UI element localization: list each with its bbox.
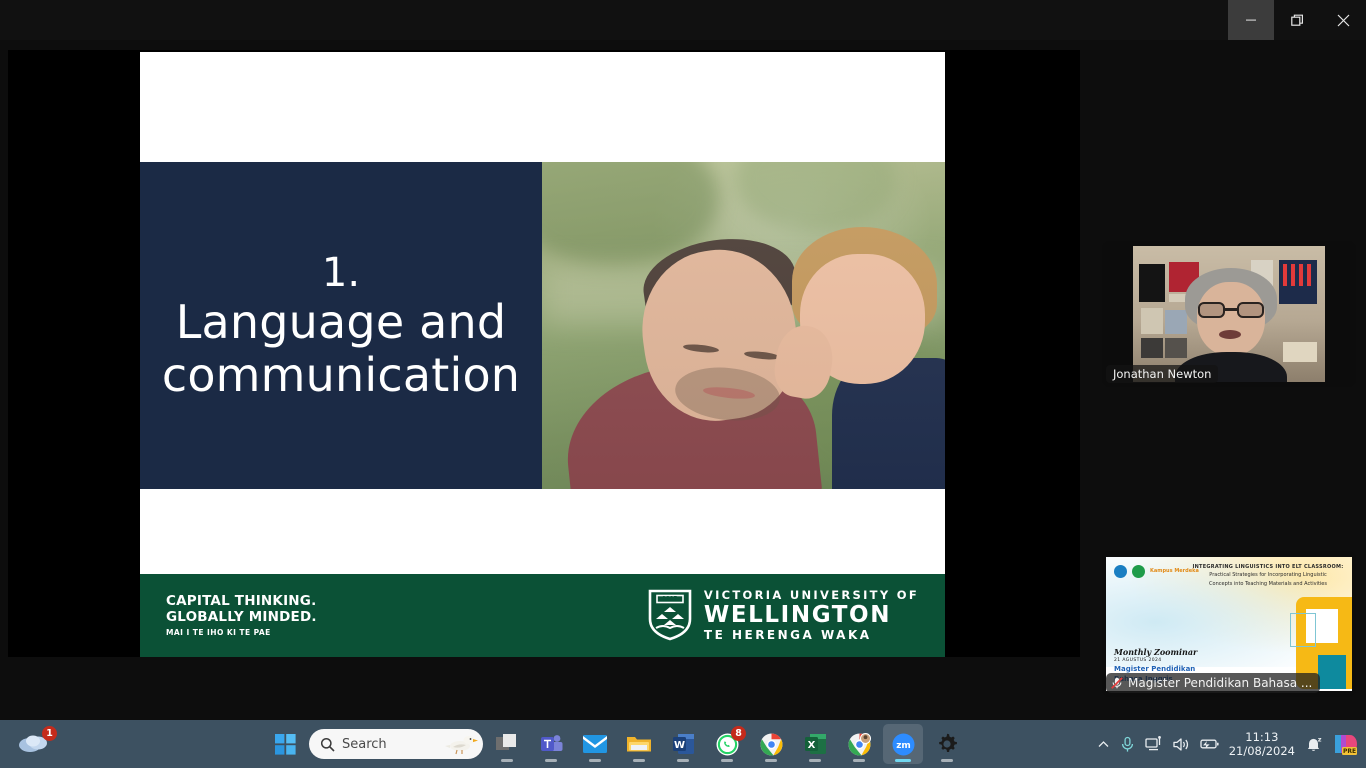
running-indicator [721,759,733,762]
svg-text:zm: zm [896,741,911,751]
volume-icon[interactable] [1173,737,1190,752]
minimize-icon [1245,14,1257,26]
wall-poster [1283,264,1313,286]
tagline-line-1: CAPITAL THINKING. [166,594,317,610]
search-box[interactable]: Search [309,729,483,759]
slide-middle-band: 1. Language and communication [140,162,945,489]
slide-logo-group: Kampus Merdeka [1114,565,1199,578]
search-placeholder: Search [342,737,387,752]
taskbar-app-mail[interactable] [575,724,615,764]
running-indicator [501,759,513,762]
window-controls [1228,0,1366,40]
speaker-face [1197,282,1265,356]
taskbar-app-zoom[interactable]: zm [883,724,923,764]
windows-logo-icon [275,734,296,755]
windows-taskbar: 1 Search [0,720,1366,768]
running-indicator [853,759,865,762]
taskbar-app-settings[interactable] [927,724,967,764]
svg-text:W: W [673,740,684,751]
running-indicator [589,759,601,762]
svg-text:z: z [1318,735,1322,743]
taskbar-app-microsoft-teams[interactable] [531,724,571,764]
footer-org-line-1: Magister Pendidikan [1114,665,1197,673]
glasses-lens [1237,302,1264,318]
speaker-video-feed [1133,246,1325,382]
slide-footer-bar: CAPITAL THINKING. GLOBALLY MINDED. MAI I… [140,574,945,657]
tagline-line-2: GLOBALLY MINDED. [166,610,317,626]
mail-icon [583,735,607,753]
crest-year: 1897 [648,596,692,602]
copilot-pre-icon[interactable]: PRE [1332,732,1358,756]
start-button[interactable] [265,724,305,764]
teal-shape [1318,655,1346,689]
wall-poster [1283,342,1317,362]
wall-poster [1141,338,1163,358]
restore-button[interactable] [1274,0,1320,40]
thumbnail-name-text: Magister Pendidikan Bahasa ... [1128,676,1312,690]
slide-title-line-2: communication [162,349,520,402]
microsoft-word-icon: W [673,733,694,755]
task-view-icon [496,734,518,754]
thumbnail-name-label: Magister Pendidikan Bahasa ... [1106,673,1320,693]
university-wordmark: VICTORIA UNIVERSITY OF WELLINGTON TE HER… [704,588,919,642]
restore-icon [1291,14,1304,27]
footer-date: 21 AGUSTUS 2024 [1114,658,1197,663]
shared-screen-region[interactable]: 1. Language and communication [8,50,1080,657]
glasses-bridge [1225,308,1237,311]
chevron-up-icon[interactable] [1097,738,1110,751]
close-button[interactable] [1320,0,1366,40]
university-tagline: CAPITAL THINKING. GLOBALLY MINDED. MAI I… [166,594,317,636]
running-indicator [677,759,689,762]
thumbnail-shared-slide: Kampus Merdeka INTEGRATING LINGUISTICS I… [1106,557,1352,691]
university-logo: 1897 VICTORIA UNIVERSITY OF WELLINGTON T… [648,588,919,642]
google-chrome-icon [760,733,783,756]
tagline-line-3: MAI I TE IHO KI TE PAE [166,628,317,637]
participant-tile-speaker[interactable]: Jonathan Newton [1102,241,1356,387]
photo-overlay [542,162,945,489]
bell-do-not-disturb-icon[interactable]: z [1305,736,1322,753]
university-crest-icon: 1897 [648,589,692,641]
taskbar-app-google-chrome-profile[interactable] [839,724,879,764]
slide-photo [542,162,945,489]
gear-icon [936,733,958,755]
wall-poster [1141,308,1163,334]
heading-line-1: INTEGRATING LINGUISTICS INTO ELT CLASSRO… [1190,564,1346,571]
running-indicator [633,759,645,762]
presentation-slide: 1. Language and communication [140,52,945,657]
wordmark-line-2: WELLINGTON [704,603,919,628]
microphone-muted-icon [1110,676,1124,690]
slide-top-band [140,52,945,162]
zoom-icon: zm [892,733,915,756]
file-explorer-icon [627,735,651,754]
institution-logo-icon [1132,565,1145,578]
close-icon [1337,14,1350,27]
microphone-icon[interactable] [1120,736,1135,753]
footer-title: Monthly Zoominar [1114,647,1197,657]
glasses-lens [1198,302,1225,318]
running-indicator [809,759,821,762]
participant-tile-thumbnail[interactable]: Kampus Merdeka INTEGRATING LINGUISTICS I… [1102,551,1356,697]
slide-bottom-band [140,489,945,574]
weather-widget[interactable]: 1 [16,728,60,760]
running-indicator [941,759,953,762]
weather-badge: 1 [42,726,57,741]
taskbar-app-microsoft-word[interactable]: W [663,724,703,764]
taskbar-app-microsoft-excel[interactable]: X [795,724,835,764]
heading-line-2: Practical Strategies for Incorporating L… [1190,572,1346,580]
running-indicator [545,759,557,762]
system-tray: 11:13 21/08/2024 z PRE [1097,720,1358,768]
microsoft-teams-icon [540,734,563,755]
wordmark-line-3: TE HERENGA WAKA [704,628,919,643]
wall-poster [1139,264,1165,302]
clock-time: 11:13 [1229,730,1295,744]
svg-text:X: X [807,740,815,751]
taskbar-center-group: Search [265,720,967,768]
wordmark-line-1: VICTORIA UNIVERSITY OF [704,588,919,602]
whatsapp-badge: 8 [731,726,746,741]
outline-shape [1290,613,1316,647]
microsoft-excel-icon: X [805,733,826,755]
battery-icon[interactable] [1200,737,1219,751]
slide-number: 1. [322,250,360,296]
bird-icon [441,731,477,757]
speaker-name-label: Jonathan Newton [1106,365,1218,383]
taskbar-app-file-explorer[interactable] [619,724,659,764]
svg-text:PRE: PRE [1343,748,1356,755]
active-indicator [895,759,911,762]
slide-title-panel: 1. Language and communication [140,162,542,489]
taskbar-app-google-chrome[interactable] [751,724,791,764]
clock-date: 21/08/2024 [1229,744,1295,758]
slide-title-line-1: Language and [176,296,507,349]
glasses-icon [1197,302,1265,318]
taskbar-clock[interactable]: 11:13 21/08/2024 [1229,730,1295,759]
window-title-bar [0,0,1366,40]
search-icon [320,737,335,752]
speaker-mouth [1219,330,1241,339]
zoom-meeting-window: 1. Language and communication [0,40,1366,720]
network-icon[interactable] [1145,736,1163,752]
tut-wuri-handayani-icon [1114,565,1127,578]
taskbar-app-whatsapp[interactable]: 8 [707,724,747,764]
taskbar-app-task-view[interactable] [487,724,527,764]
running-indicator [765,759,777,762]
google-chrome-profile-icon [848,733,871,756]
minimize-button[interactable] [1228,0,1274,40]
